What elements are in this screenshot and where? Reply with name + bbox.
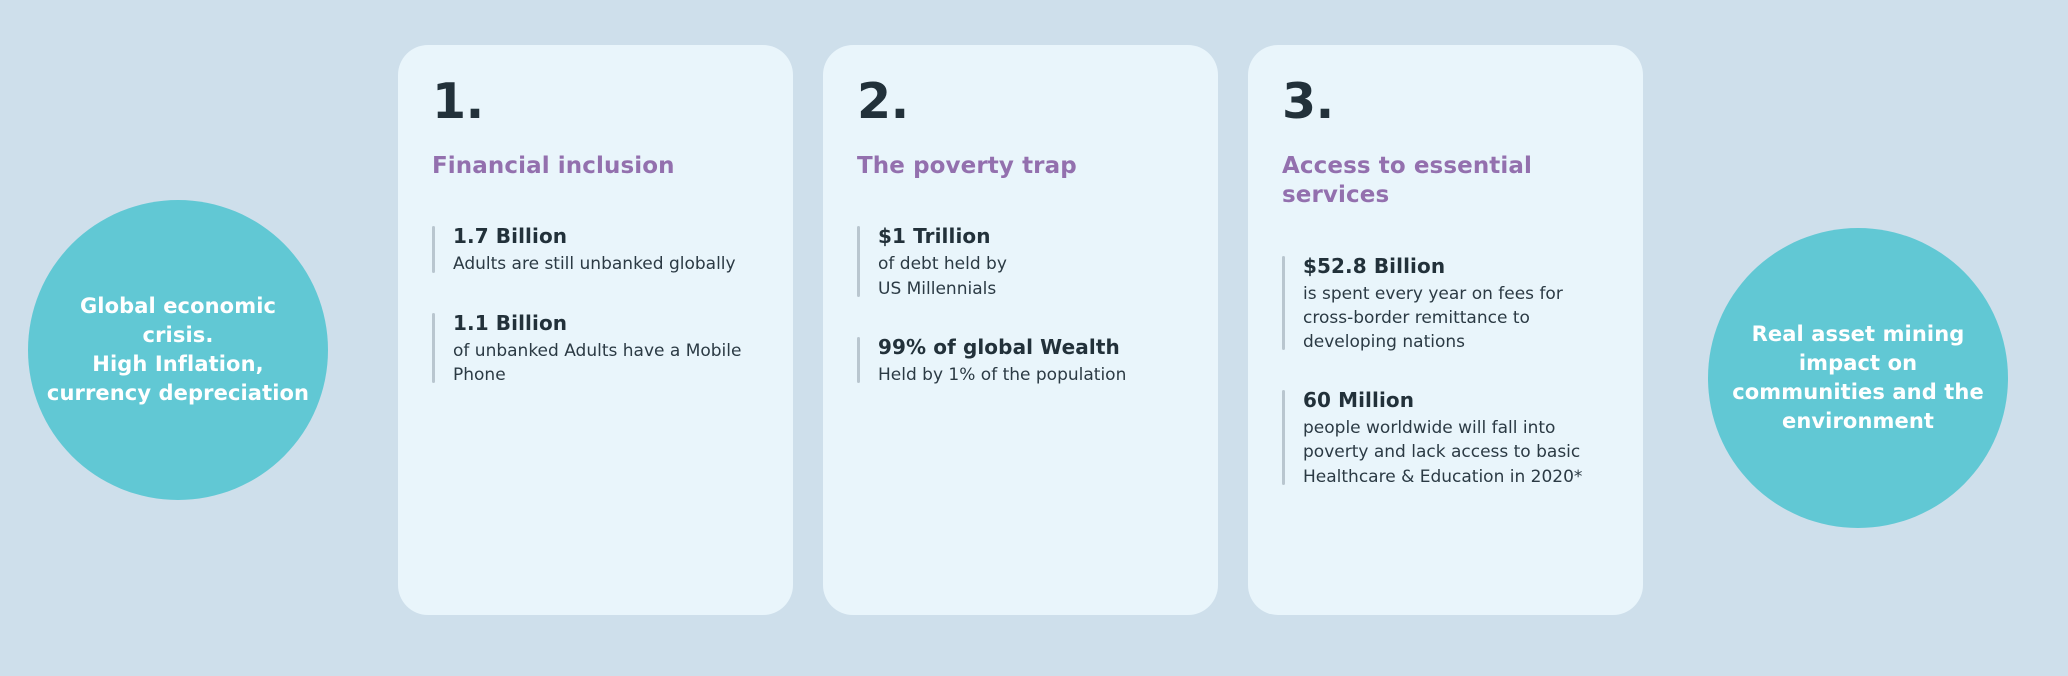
card-heading: Financial inclusion [432, 152, 759, 181]
stat-value: 60 Million [1303, 387, 1609, 414]
stat-accent-bar [1282, 256, 1285, 350]
stat-value: 1.1 Billion [453, 310, 759, 337]
stat-item: 1.7 Billion Adults are still unbanked gl… [432, 223, 759, 276]
stat-accent-bar [857, 337, 860, 383]
stat-value: 1.7 Billion [453, 223, 759, 250]
stat-item: 60 Million people worldwide will fall in… [1282, 387, 1609, 488]
stat-item: $52.8 Billion is spent every year on fee… [1282, 253, 1609, 354]
stat-description: Held by 1% of the population [878, 363, 1184, 387]
stat-value: $52.8 Billion [1303, 253, 1609, 280]
left-context-circle-text: Global economic crisis. High Inflation, … [28, 292, 328, 408]
card-number: 3. [1282, 77, 1609, 126]
card-heading: The poverty trap [857, 152, 1184, 181]
stat-description: of debt held by US Millennials [878, 252, 1184, 300]
left-context-circle: Global economic crisis. High Inflation, … [28, 200, 328, 500]
stat-accent-bar [1282, 390, 1285, 484]
cards-row: 1. Financial inclusion 1.7 Billion Adult… [398, 45, 1643, 615]
card-heading: Access to essential services [1282, 152, 1609, 211]
stat-item: 99% of global Wealth Held by 1% of the p… [857, 334, 1184, 387]
card-stats-list: $52.8 Billion is spent every year on fee… [1282, 253, 1609, 489]
infographic-stage: Global economic crisis. High Inflation, … [0, 0, 2068, 676]
stat-description: Adults are still unbanked globally [453, 252, 759, 276]
card-number: 1. [432, 77, 759, 126]
stat-item: $1 Trillion of debt held by US Millennia… [857, 223, 1184, 300]
right-context-circle: Real asset mining impact on communities … [1708, 228, 2008, 528]
card-stats-list: 1.7 Billion Adults are still unbanked gl… [432, 223, 759, 386]
card-poverty-trap: 2. The poverty trap $1 Trillion of debt … [823, 45, 1218, 615]
stat-description: is spent every year on fees for cross-bo… [1303, 282, 1609, 354]
stat-accent-bar [432, 226, 435, 272]
stat-accent-bar [857, 226, 860, 296]
stat-description: of unbanked Adults have a Mobile Phone [453, 339, 759, 387]
stat-item: 1.1 Billion of unbanked Adults have a Mo… [432, 310, 759, 387]
stat-accent-bar [432, 313, 435, 383]
stat-description: people worldwide will fall into poverty … [1303, 416, 1609, 488]
right-context-circle-text: Real asset mining impact on communities … [1708, 320, 2008, 436]
card-access-essential-services: 3. Access to essential services $52.8 Bi… [1248, 45, 1643, 615]
stat-value: 99% of global Wealth [878, 334, 1184, 361]
card-stats-list: $1 Trillion of debt held by US Millennia… [857, 223, 1184, 386]
stat-value: $1 Trillion [878, 223, 1184, 250]
card-financial-inclusion: 1. Financial inclusion 1.7 Billion Adult… [398, 45, 793, 615]
card-number: 2. [857, 77, 1184, 126]
